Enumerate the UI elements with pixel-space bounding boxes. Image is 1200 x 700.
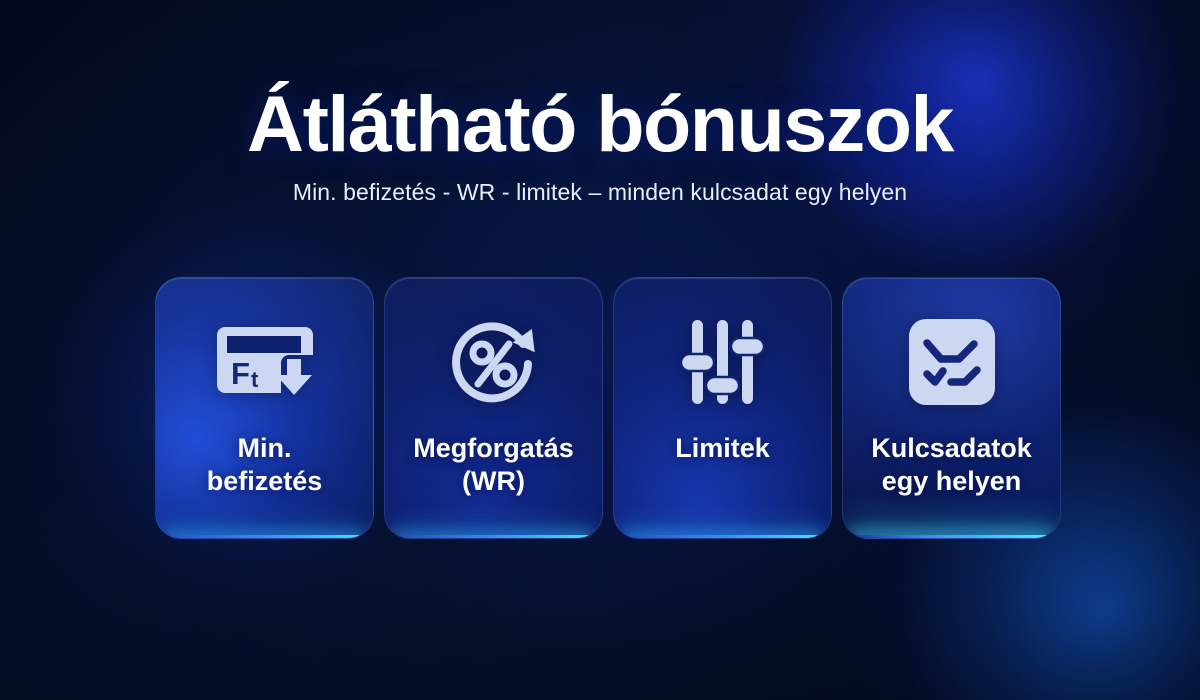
promo-banner: Átlátható bónuszok Min. befizetés - WR -…: [0, 0, 1200, 700]
page-title: Átlátható bónuszok: [0, 84, 1200, 163]
feature-card-label: Megforgatás (WR): [385, 432, 602, 498]
svg-text:t: t: [251, 367, 259, 392]
feature-card-wagering[interactable]: Megforgatás (WR): [384, 277, 603, 539]
sliders-equalizer-icon: [680, 314, 766, 410]
feature-card-min-deposit[interactable]: F t Min. befizetés: [155, 277, 374, 539]
feature-card-list: F t Min. befizetés: [155, 277, 1061, 539]
feature-card-label: Limitek: [614, 432, 831, 465]
page-subtitle: Min. befizetés - WR - limitek – minden k…: [0, 179, 1200, 206]
feature-card-key-data[interactable]: Kulcsadatok egy helyen: [842, 277, 1061, 539]
feature-card-limits[interactable]: Limitek: [613, 277, 832, 539]
header: Átlátható bónuszok Min. befizetés - WR -…: [0, 0, 1200, 206]
percent-rotate-arrow-icon: [445, 314, 543, 410]
credit-card-ft-download-icon: F t: [213, 314, 317, 410]
checklist-square-icon: [907, 314, 997, 410]
svg-text:F: F: [231, 356, 250, 391]
feature-card-label: Min. befizetés: [156, 432, 373, 498]
feature-card-label: Kulcsadatok egy helyen: [843, 432, 1060, 498]
